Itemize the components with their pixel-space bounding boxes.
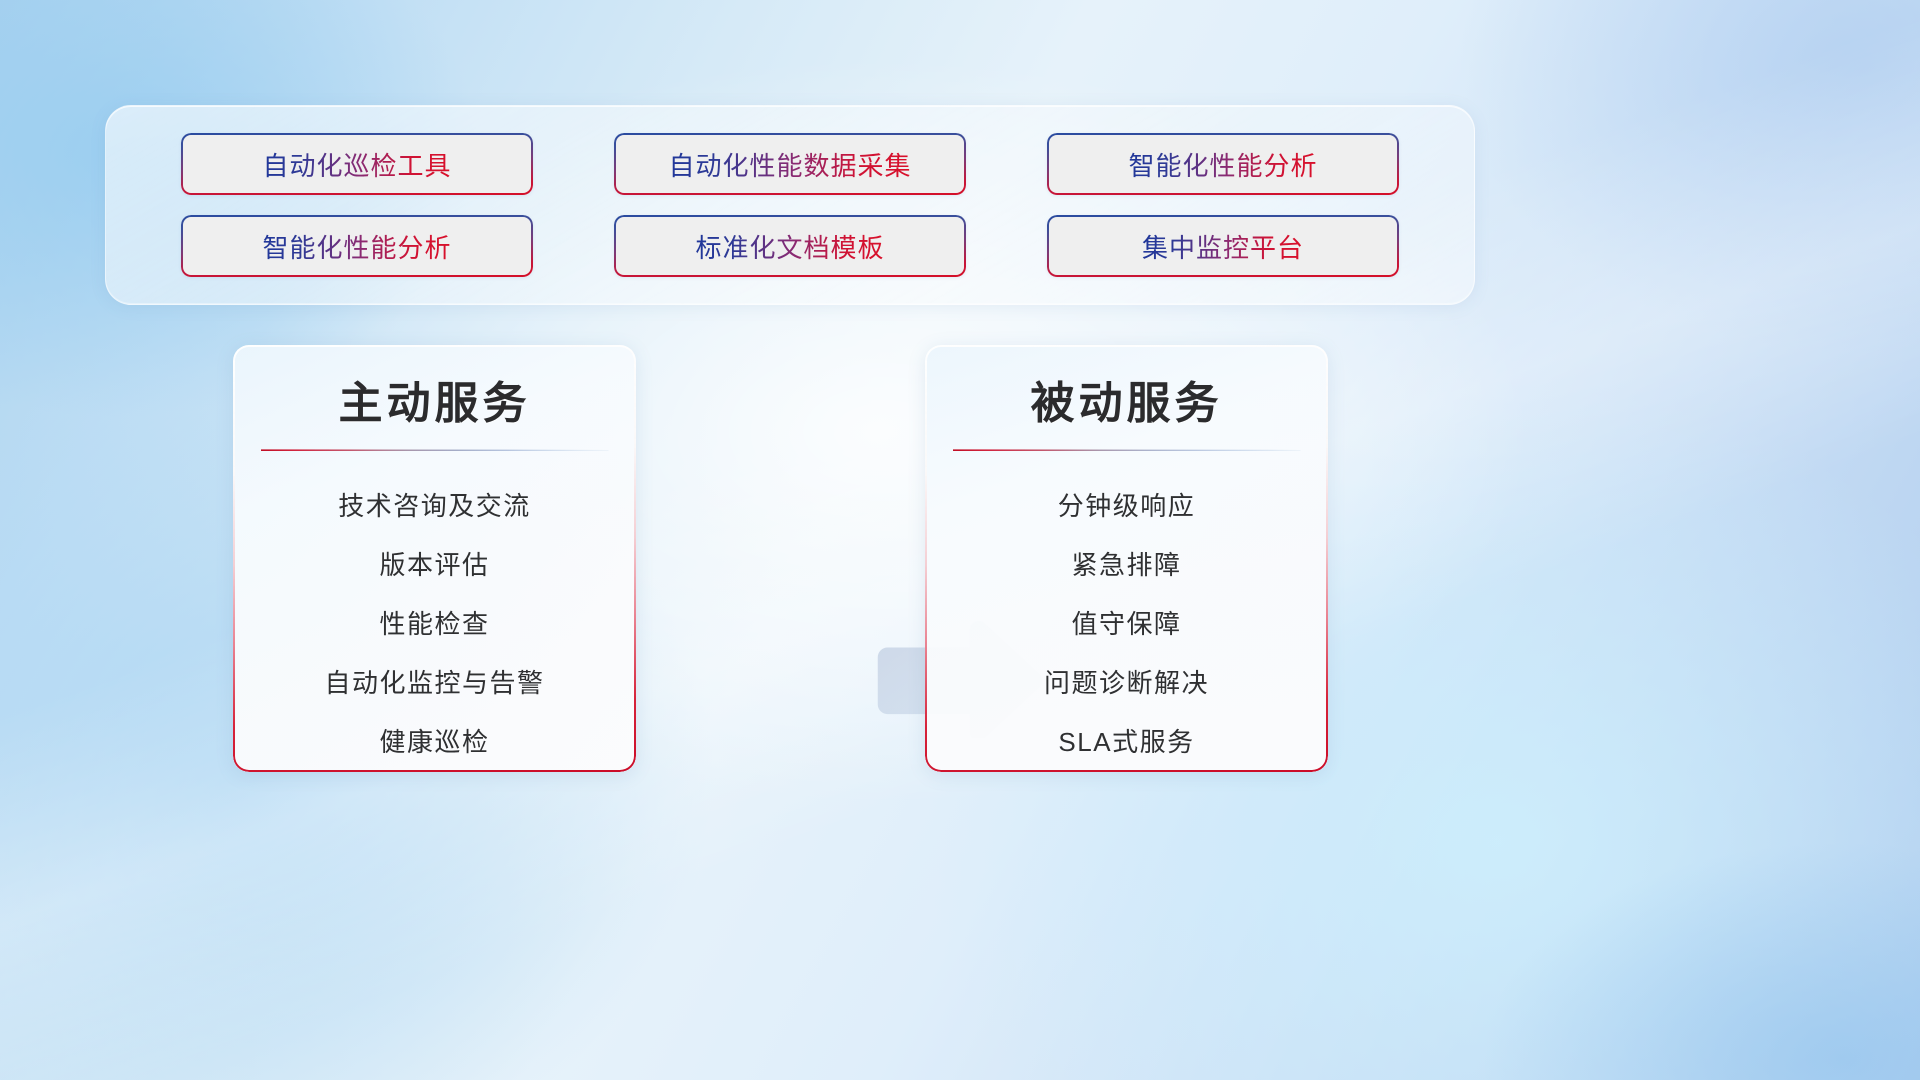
capability-row-1: 自动化巡检工具 自动化性能数据采集 智能化性能分析 <box>181 133 1399 195</box>
capability-pill-standard-doc-template[interactable]: 标准化文档模板 <box>614 215 966 277</box>
service-list-item: 技术咨询及交流 <box>338 477 531 536</box>
service-list-item: 紧急排障 <box>1071 536 1181 595</box>
service-list-item: SLA式服务 <box>1058 713 1194 772</box>
capability-pill-intelligent-performance-analysis-2[interactable]: 智能化性能分析 <box>181 215 533 277</box>
service-item-list: 分钟级响应 紧急排障 值守保障 问题诊断解决 SLA式服务 <box>925 477 1328 772</box>
service-list-item: 健康巡检 <box>379 713 489 772</box>
service-card-proactive: 主动服务 技术咨询及交流 版本评估 性能检查 自动化监控与告警 健康巡检 <box>233 345 636 772</box>
service-card-title: 被动服务 <box>1031 367 1223 431</box>
capability-row-2: 智能化性能分析 标准化文档模板 集中监控平台 <box>181 215 1399 277</box>
service-list-item: 值守保障 <box>1071 595 1181 654</box>
service-list-item: 性能检查 <box>379 595 489 654</box>
capability-pill-label: 集中监控平台 <box>1142 228 1304 265</box>
title-divider <box>953 449 1301 451</box>
capability-panel: 自动化巡检工具 自动化性能数据采集 智能化性能分析 智能化性能分析 标准化文档模… <box>105 105 1475 305</box>
capability-pill-intelligent-performance-analysis[interactable]: 智能化性能分析 <box>1047 133 1399 195</box>
service-card-title: 主动服务 <box>339 367 531 431</box>
service-card-reactive: 被动服务 分钟级响应 紧急排障 值守保障 问题诊断解决 SLA式服务 <box>925 345 1328 772</box>
capability-pill-label: 智能化性能分析 <box>1128 146 1317 183</box>
capability-pill-label: 自动化性能数据采集 <box>668 146 911 183</box>
service-list-item: 自动化监控与告警 <box>324 654 544 713</box>
capability-pill-auto-performance-collection[interactable]: 自动化性能数据采集 <box>614 133 966 195</box>
title-divider <box>261 449 609 451</box>
capability-pill-central-monitoring-platform[interactable]: 集中监控平台 <box>1047 215 1399 277</box>
capability-pill-label: 智能化性能分析 <box>262 228 451 265</box>
service-list-item: 分钟级响应 <box>1058 477 1196 536</box>
service-item-list: 技术咨询及交流 版本评估 性能检查 自动化监控与告警 健康巡检 <box>233 477 636 772</box>
service-list-item: 问题诊断解决 <box>1044 654 1209 713</box>
service-list-item: 版本评估 <box>379 536 489 595</box>
capability-pill-auto-inspection-tool[interactable]: 自动化巡检工具 <box>181 133 533 195</box>
capability-pill-label: 标准化文档模板 <box>695 228 884 265</box>
capability-pill-label: 自动化巡检工具 <box>262 146 451 183</box>
